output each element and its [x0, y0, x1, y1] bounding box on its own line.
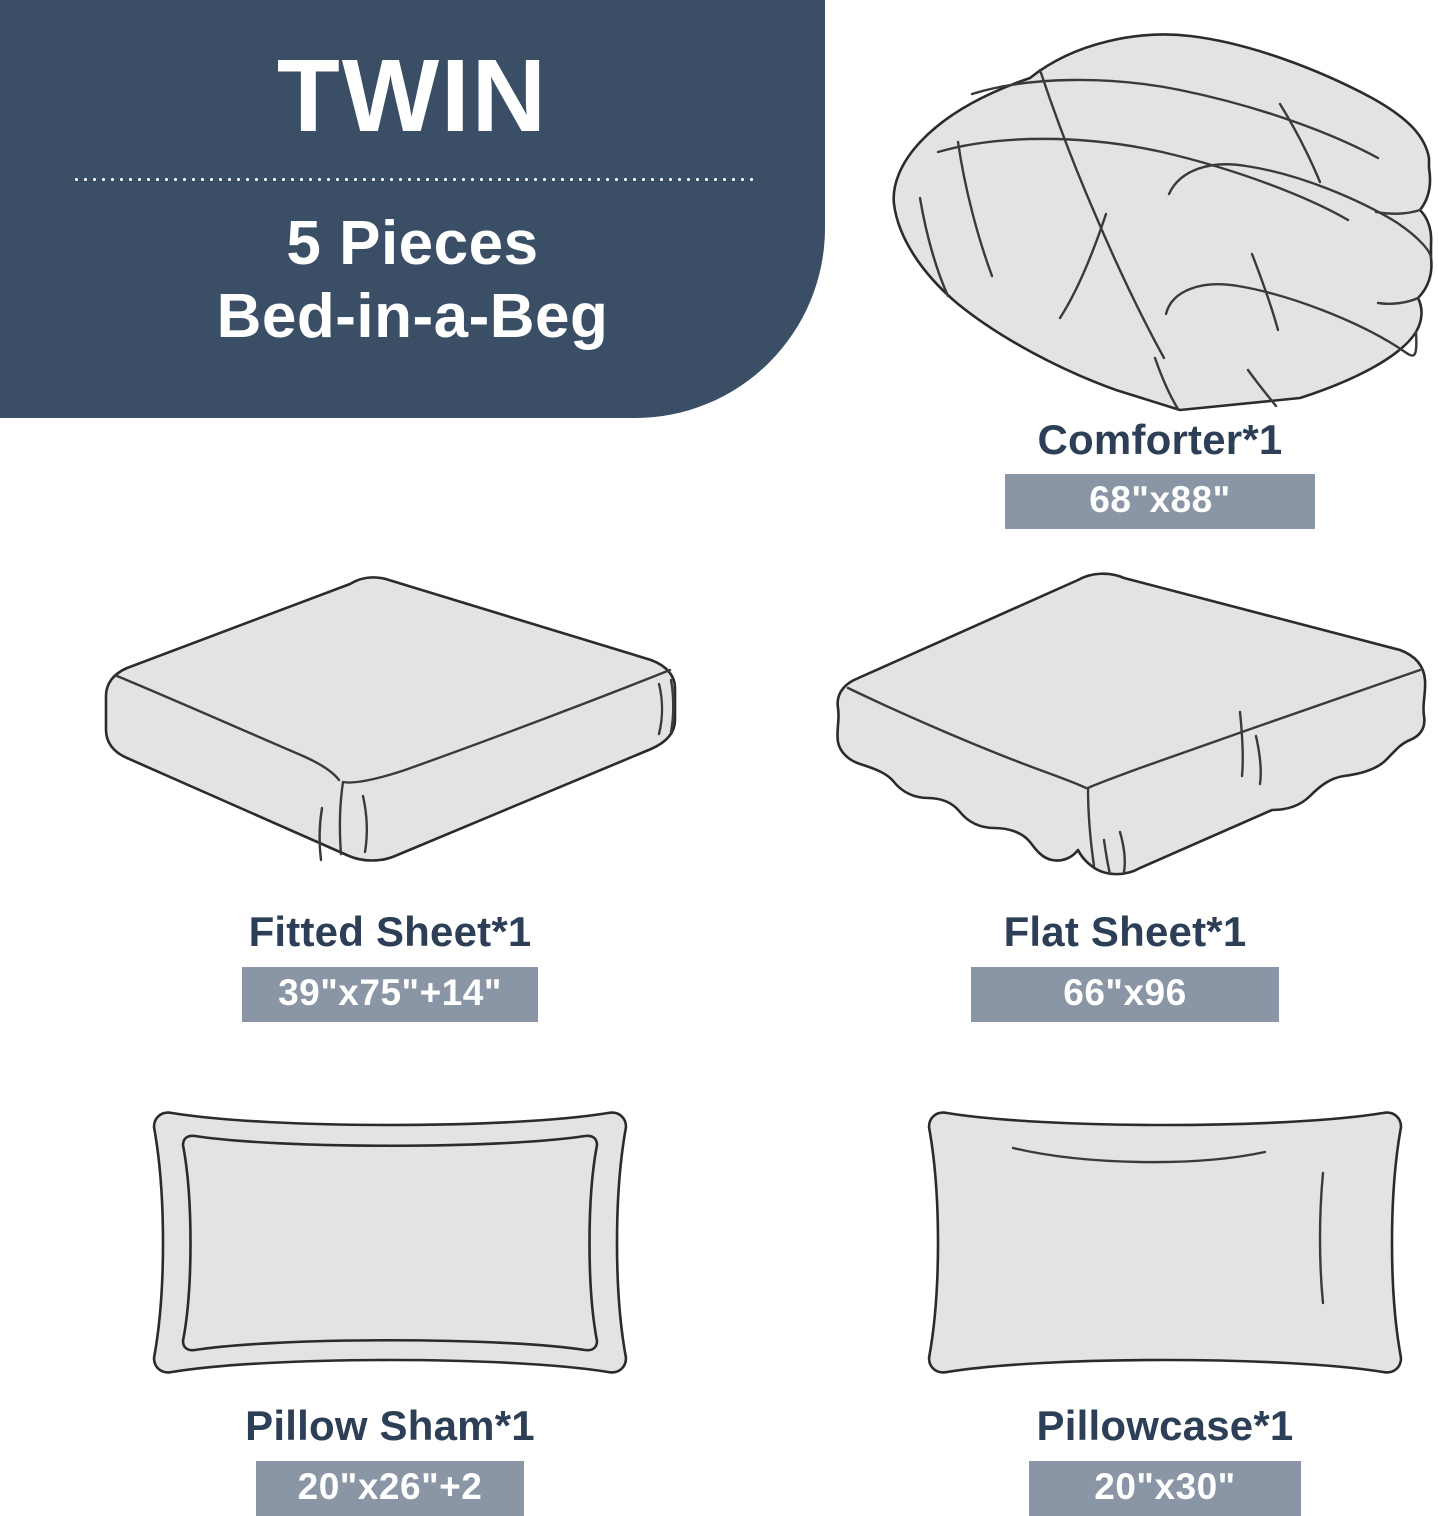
- pillow-sham-size-badge: 20"x26"+2: [256, 1461, 524, 1516]
- flat-sheet-size-badge: 66"x96: [971, 967, 1279, 1022]
- pillow-sham-illustration: [120, 1105, 660, 1380]
- pillowcase-badge-wrap: 20"x30": [895, 1450, 1435, 1516]
- pillow-sham-badge-wrap: 20"x26"+2: [120, 1450, 660, 1516]
- pillow-sham-label: Pillow Sham*1: [120, 1402, 660, 1450]
- page-title: TWIN: [0, 42, 825, 150]
- fitted-sheet-size-badge: 39"x75"+14": [242, 967, 538, 1022]
- comforter-label: Comforter*1: [880, 416, 1438, 464]
- header-subtitle-line1: 5 Pieces: [0, 207, 825, 280]
- flat-sheet-illustration: [810, 570, 1438, 890]
- item-pillow-sham: Pillow Sham*1 20"x26"+2: [120, 1105, 660, 1516]
- fitted-sheet-label: Fitted Sheet*1: [95, 908, 685, 956]
- comforter-size-badge: 68"x88": [1005, 474, 1315, 529]
- pillowcase-label: Pillowcase*1: [895, 1402, 1435, 1450]
- flat-sheet-icon: [810, 570, 1438, 890]
- item-comforter: Comforter*1 68"x88": [880, 18, 1438, 529]
- dotted-divider-icon: [72, 177, 755, 182]
- fitted-sheet-illustration: [95, 570, 685, 890]
- header-subtitle: 5 Pieces Bed-in-a-Beg: [0, 207, 825, 353]
- flat-sheet-badge-wrap: 66"x96: [810, 956, 1438, 1022]
- fitted-sheet-badge-wrap: 39"x75"+14": [95, 956, 685, 1022]
- folded-comforter-icon: [880, 18, 1438, 410]
- pillowcase-illustration: [895, 1105, 1435, 1380]
- comforter-badge-wrap: 68"x88": [880, 464, 1438, 529]
- pillowcase-icon: [895, 1105, 1435, 1380]
- fitted-sheet-icon: [95, 570, 685, 890]
- flat-sheet-label: Flat Sheet*1: [810, 908, 1438, 956]
- item-flat-sheet: Flat Sheet*1 66"x96: [810, 570, 1438, 1022]
- item-pillowcase: Pillowcase*1 20"x30": [895, 1105, 1435, 1516]
- header-panel: TWIN 5 Pieces Bed-in-a-Beg: [0, 0, 825, 418]
- item-fitted-sheet: Fitted Sheet*1 39"x75"+14": [95, 570, 685, 1022]
- header-subtitle-line2: Bed-in-a-Beg: [0, 280, 825, 353]
- pillowcase-size-badge: 20"x30": [1029, 1461, 1301, 1516]
- comforter-illustration: [880, 18, 1438, 410]
- pillow-sham-icon: [120, 1105, 660, 1380]
